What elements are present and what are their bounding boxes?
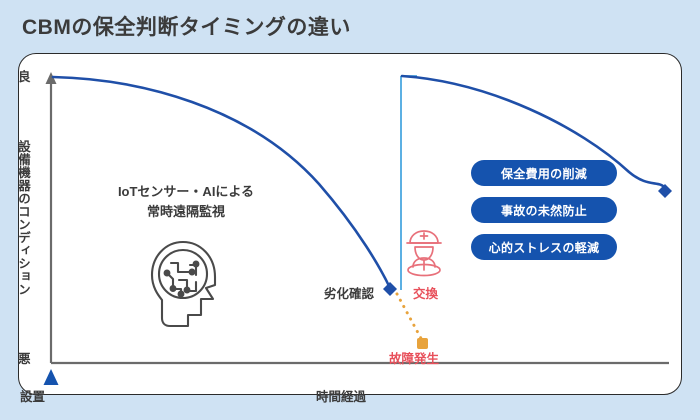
ai-brain-icon xyxy=(143,233,235,331)
install-marker-icon xyxy=(44,369,59,385)
x-axis-title: 時間経過 xyxy=(316,386,366,405)
degradation-point-label: 劣化確認 xyxy=(324,283,374,302)
slide-canvas: CBMの保全判断タイミングの違い 良 悪 設備機器のコンディショ xyxy=(0,0,700,420)
benefit-badge-cost[interactable]: 保全費用の削減 xyxy=(471,160,617,186)
replacement-point-label: 交換 xyxy=(413,283,438,302)
y-axis-bottom-label: 悪 xyxy=(18,348,31,367)
y-axis-title: 設備機器のコンディション xyxy=(14,140,33,296)
page-title: CBMの保全判断タイミングの違い xyxy=(22,11,351,41)
benefit-badge-list: 保全費用の削減 事故の未然防止 心的ストレスの軽減 xyxy=(471,160,617,260)
x-axis-start-label: 設置 xyxy=(20,386,45,405)
degradation-endpoint-marker xyxy=(383,282,397,296)
y-axis-top-label: 良 xyxy=(18,66,31,85)
monitoring-caption-line-1: IoTセンサー・AIによる xyxy=(76,182,296,202)
failure-point-label: 故障発生 xyxy=(389,348,439,367)
monitoring-caption-line-2: 常時遠隔監視 xyxy=(76,202,296,222)
worker-helmet-icon xyxy=(403,228,445,280)
monitoring-caption: IoTセンサー・AIによる 常時遠隔監視 xyxy=(76,182,296,222)
benefit-badge-stress[interactable]: 心的ストレスの軽減 xyxy=(471,234,617,260)
benefit-badge-accident[interactable]: 事故の未然防止 xyxy=(471,197,617,223)
